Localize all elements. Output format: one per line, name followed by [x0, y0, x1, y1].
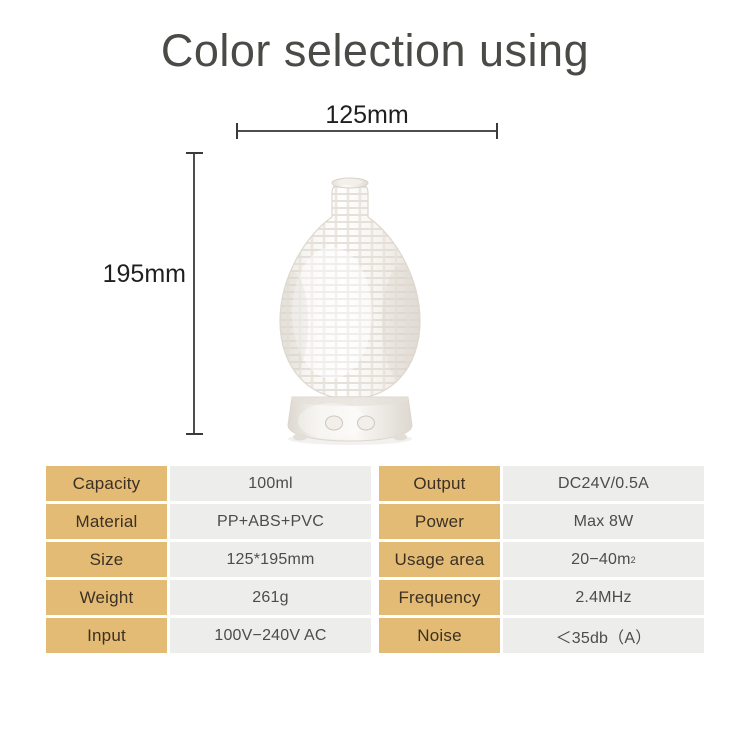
usage-area-text: 20−40m — [571, 551, 630, 569]
width-dimension-line — [236, 130, 498, 132]
spec-label-size: Size — [46, 542, 167, 577]
spec-label-output: Output — [379, 466, 500, 501]
power-button — [326, 416, 343, 430]
table-row: Capacity 100ml — [46, 466, 371, 501]
diffuser-base — [288, 392, 412, 441]
table-row: Input 100V−240V AC — [46, 618, 371, 653]
width-dimension-label: 125mm — [236, 101, 498, 130]
spec-value-frequency: 2.4MHz — [503, 580, 704, 615]
spec-value-power: Max 8W — [503, 504, 704, 539]
spec-label-weight: Weight — [46, 580, 167, 615]
height-dimension-label: 195mm — [70, 260, 186, 289]
width-dimension-tick-left — [236, 123, 238, 139]
page-title: Color selection using — [0, 26, 750, 76]
table-row: Output DC24V/0.5A — [379, 466, 704, 501]
spec-label-input: Input — [46, 618, 167, 653]
spec-label-material: Material — [46, 504, 167, 539]
table-row: Material PP+ABS+PVC — [46, 504, 371, 539]
spec-label-power: Power — [379, 504, 500, 539]
table-row: Weight 261g — [46, 580, 371, 615]
width-dimension-tick-right — [496, 123, 498, 139]
table-row: Usage area 20−40m2 — [379, 542, 704, 577]
diffuser-neck — [332, 178, 368, 188]
spec-value-input: 100V−240V AC — [170, 618, 371, 653]
spec-value-capacity: 100ml — [170, 466, 371, 501]
spec-label-frequency: Frequency — [379, 580, 500, 615]
spec-value-size: 125*195mm — [170, 542, 371, 577]
spec-value-material: PP+ABS+PVC — [170, 504, 371, 539]
diffuser-image — [262, 173, 438, 445]
spec-label-capacity: Capacity — [46, 466, 167, 501]
spec-table-left: Capacity 100ml Material PP+ABS+PVC Size … — [46, 466, 371, 653]
spec-value-usage-area: 20−40m2 — [503, 542, 704, 577]
height-dimension-tick-bottom — [186, 433, 203, 435]
product-figure: 125mm 195mm — [0, 95, 750, 455]
spec-value-weight: 261g — [170, 580, 371, 615]
spec-label-usage-area: Usage area — [379, 542, 500, 577]
spec-value-output: DC24V/0.5A — [503, 466, 704, 501]
table-row: Size 125*195mm — [46, 542, 371, 577]
height-dimension-tick-top — [186, 152, 203, 154]
table-row: Noise ＜35db（A） — [379, 618, 704, 653]
spec-label-noise: Noise — [379, 618, 500, 653]
spec-value-noise: ＜35db（A） — [503, 618, 704, 653]
light-button — [358, 416, 375, 430]
table-row: Frequency 2.4MHz — [379, 580, 704, 615]
height-dimension-line — [193, 152, 195, 435]
spec-table-right: Output DC24V/0.5A Power Max 8W Usage are… — [379, 466, 704, 653]
table-row: Power Max 8W — [379, 504, 704, 539]
specification-tables: Capacity 100ml Material PP+ABS+PVC Size … — [46, 466, 704, 653]
